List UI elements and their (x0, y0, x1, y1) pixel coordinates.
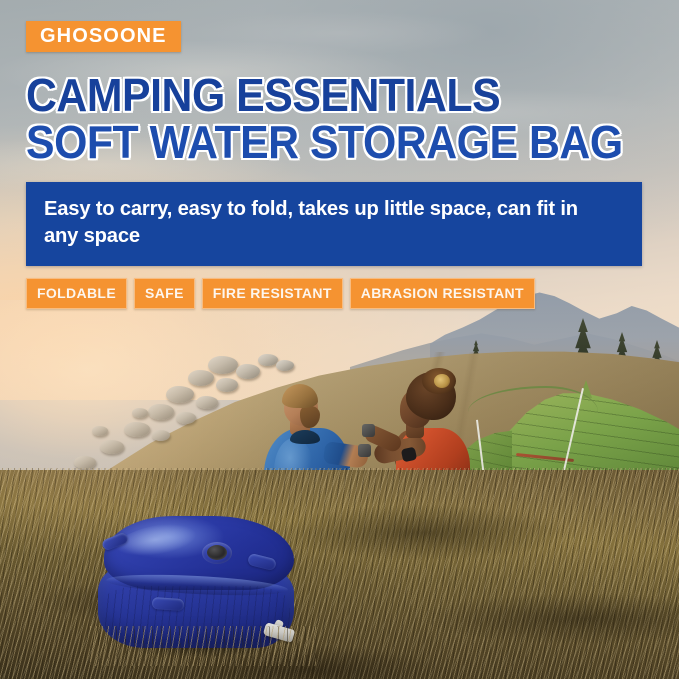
feature-tag-fire-resistant: FIRE RESISTANT (202, 278, 343, 309)
description-text: Easy to carry, easy to fold, takes up li… (44, 195, 617, 250)
product-marketing-image: GHOSOONE CAMPING ESSENTIALS SOFT WATER S… (0, 0, 679, 679)
marketing-text-overlay: GHOSOONE CAMPING ESSENTIALS SOFT WATER S… (0, 0, 679, 679)
feature-tag-abrasion-resistant: ABRASION RESISTANT (350, 278, 535, 309)
feature-tag-foldable: FOLDABLE (26, 278, 127, 309)
description-panel: Easy to carry, easy to fold, takes up li… (26, 182, 642, 266)
feature-tag-list: FOLDABLE SAFE FIRE RESISTANT ABRASION RE… (26, 278, 535, 309)
feature-tag-safe: SAFE (134, 278, 195, 309)
page-title: CAMPING ESSENTIALS (26, 72, 500, 118)
page-subtitle: SOFT WATER STORAGE BAG (26, 119, 623, 165)
brand-badge: GHOSOONE (26, 21, 181, 52)
